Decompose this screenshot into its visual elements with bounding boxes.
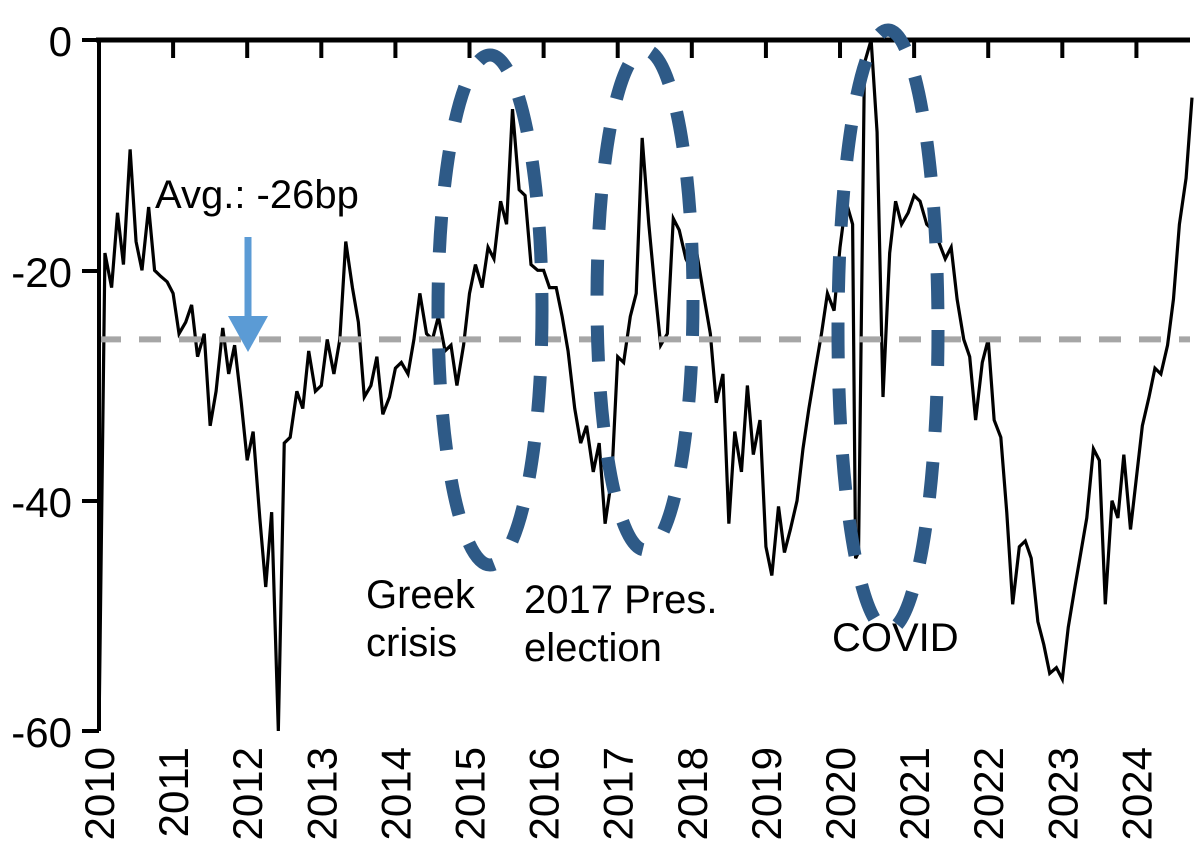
x-axis-labels: 2010201120122013201420152016201720182019… xyxy=(76,747,1160,840)
y-label-minus20: -20 xyxy=(11,249,72,296)
pres-election-label-line2: election xyxy=(524,626,662,670)
greek-crisis-label-line1: Greek xyxy=(366,573,476,617)
x-axis-label-2018: 2018 xyxy=(669,747,716,840)
x-axis-label-2014: 2014 xyxy=(372,747,419,840)
y-label-0: 0 xyxy=(49,18,72,65)
line-chart: 0 -20 -40 -60 20102011201220132014201520… xyxy=(0,0,1200,852)
x-axis-label-2010: 2010 xyxy=(76,747,123,840)
covid-label: COVID xyxy=(832,616,959,660)
x-axis-label-2021: 2021 xyxy=(891,747,938,840)
x-axis-label-2017: 2017 xyxy=(595,747,642,840)
chart-container: 0 -20 -40 -60 20102011201220132014201520… xyxy=(0,0,1200,852)
x-axis-label-2011: 2011 xyxy=(150,747,197,837)
x-axis-label-2024: 2024 xyxy=(1113,747,1160,840)
x-axis-label-2015: 2015 xyxy=(447,747,494,840)
x-axis-label-2022: 2022 xyxy=(965,747,1012,840)
x-axis-label-2020: 2020 xyxy=(817,747,864,840)
greek-crisis-label-line2: crisis xyxy=(366,621,457,665)
x-axis-label-2013: 2013 xyxy=(298,747,345,840)
y-label-minus60: -60 xyxy=(11,709,72,756)
average-annotation-label: Avg.: -26bp xyxy=(155,173,359,217)
x-axis-label-2023: 2023 xyxy=(1039,747,1086,840)
pres-election-label-line1: 2017 Pres. xyxy=(524,578,717,622)
x-axis-label-2012: 2012 xyxy=(224,747,271,840)
x-axis-label-2019: 2019 xyxy=(743,747,790,840)
x-axis-label-2016: 2016 xyxy=(521,747,568,840)
y-label-minus40: -40 xyxy=(11,479,72,526)
